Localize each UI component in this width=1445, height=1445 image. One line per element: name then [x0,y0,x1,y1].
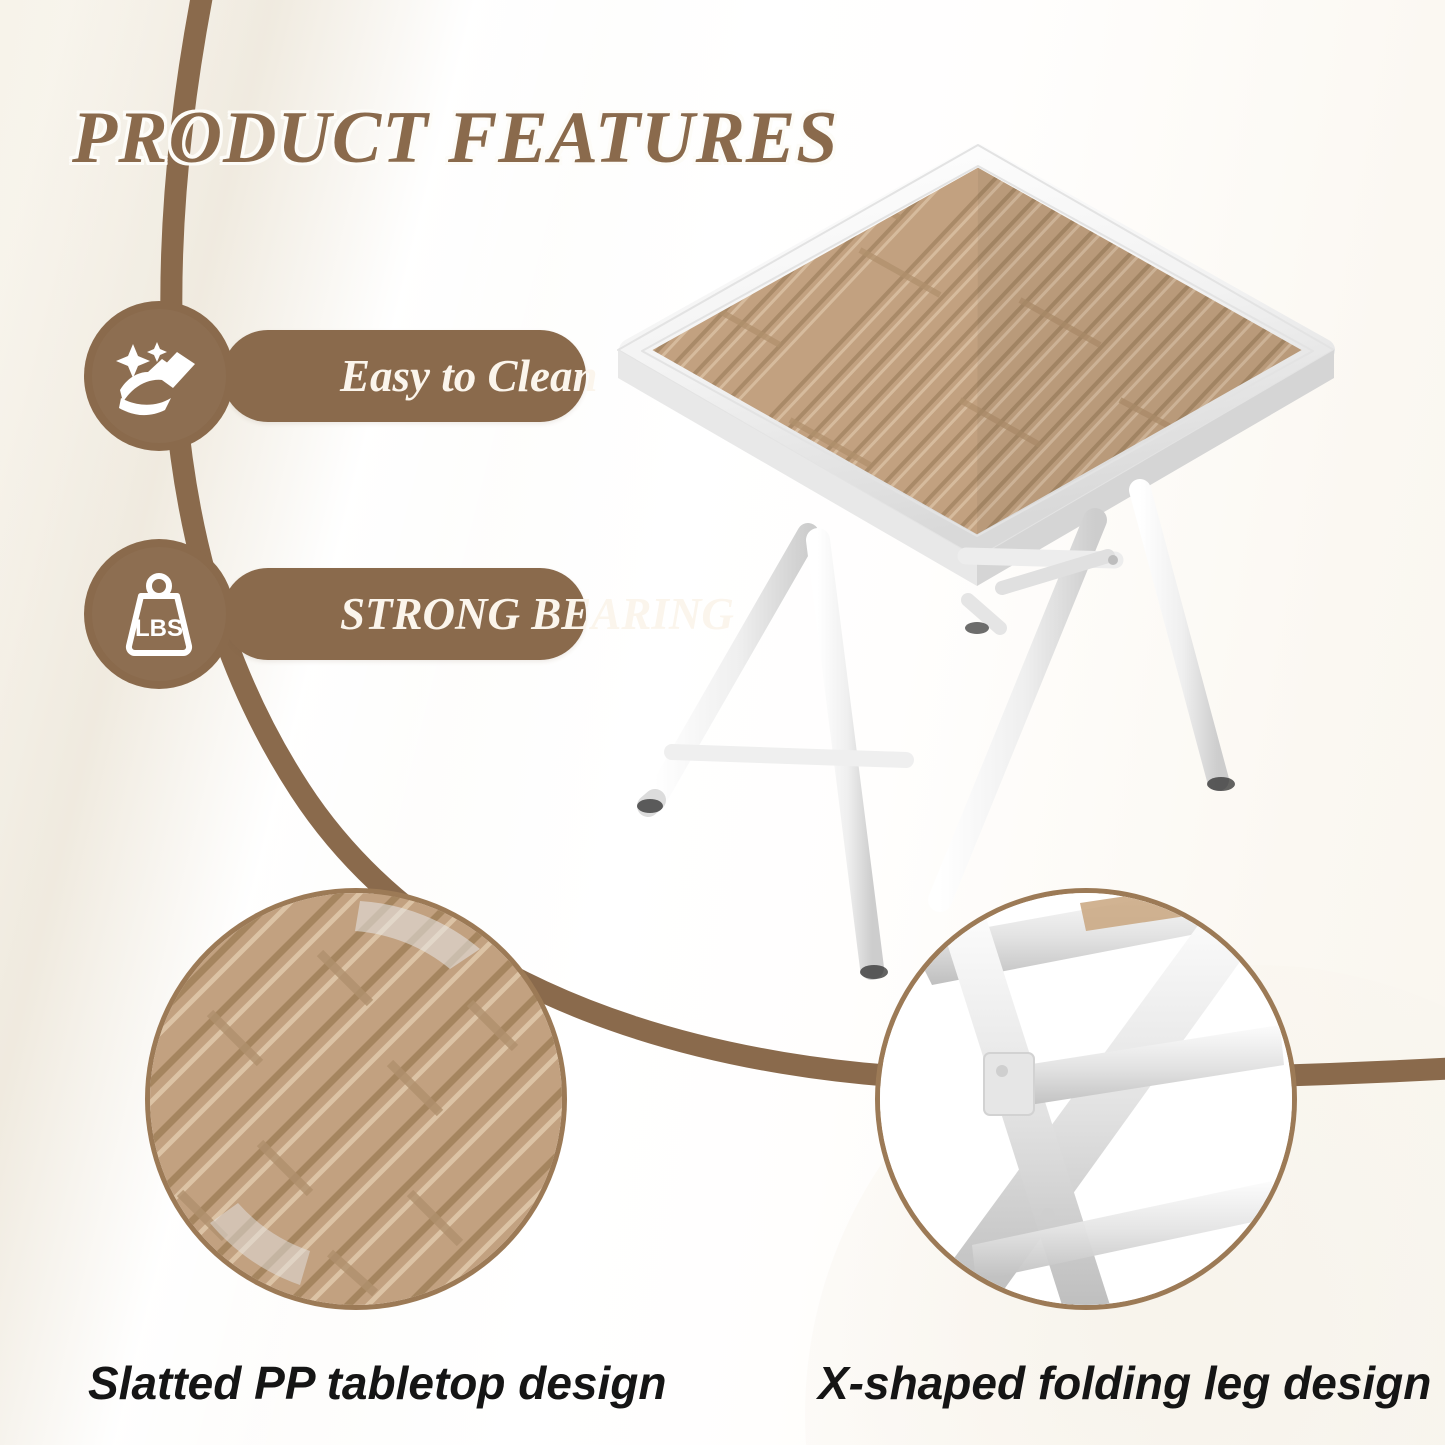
weight-lbs-icon: LBS [84,539,234,689]
detail-circle-folding-leg[interactable] [880,893,1292,1305]
detail-caption-slatted-top: Slatted PP tabletop design [88,1356,666,1410]
sparkle-hand-wipe-glyph [111,328,207,424]
detail-caption-folding-leg: X-shaped folding leg design [818,1356,1431,1410]
feature-pill-strong-bearing[interactable]: STRONG BEARING [222,568,586,660]
infographic-canvas: PRODUCT FEATURES Easy to Clean STRONG BE… [0,0,1445,1445]
weight-icon-text: LBS [135,615,183,642]
page-title: PRODUCT FEATURES [72,96,838,181]
detail-circle-slatted-top[interactable] [150,893,562,1305]
feature-label-strong-bearing: STRONG BEARING [222,588,734,640]
feature-label-easy-to-clean: Easy to Clean [222,350,598,402]
detail-folding-leg-image [880,893,1292,1305]
feature-pill-easy-to-clean[interactable]: Easy to Clean [222,330,586,422]
weight-lbs-glyph: LBS [111,566,207,662]
detail-slatted-top-image [150,893,562,1305]
sparkle-hand-wipe-icon [84,301,234,451]
